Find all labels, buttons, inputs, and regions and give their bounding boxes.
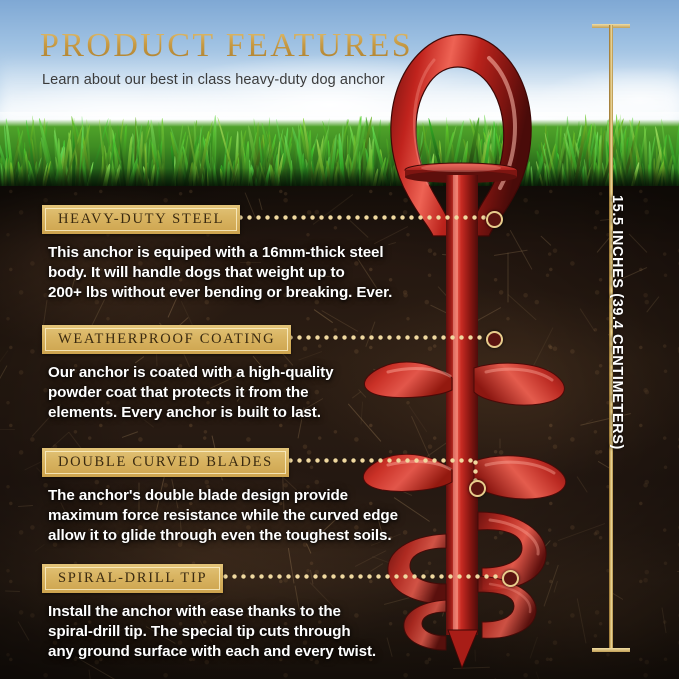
measure-cap-bottom [592,648,630,652]
header: PRODUCT FEATURES Learn about our best in… [40,28,413,88]
connector-endpoint-double-curved-blades [469,480,486,497]
feature-label-text-double-curved-blades: DOUBLE CURVED BLADES [58,454,273,471]
feature-body-heavy-duty-steel: This anchor is equiped with a 16mm-thick… [48,243,392,304]
grass-lawn [0,112,679,194]
connector-endpoint-spiral-drill-tip [502,570,519,587]
connector-endpoint-heavy-duty-steel [486,211,503,228]
feature-body-spiral-drill-tip: Install the anchor with ease thanks to t… [48,602,376,663]
feature-double-curved-blades: DOUBLE CURVED BLADES The anchor's double… [42,448,398,547]
feature-label-box-weatherproof-coating: WEATHERPROOF COATING [42,325,291,354]
feature-spiral-drill-tip: SPIRAL-DRILL TIP Install the anchor with… [42,564,376,663]
page-title: PRODUCT FEATURES [40,28,413,64]
feature-label-box-double-curved-blades: DOUBLE CURVED BLADES [42,448,289,477]
measurement-label: 15.5 INCHES (39.4 CENTIMETERS) [609,195,625,450]
feature-label-text-heavy-duty-steel: HEAVY-DUTY STEEL [58,211,224,228]
page-subtitle: Learn about our best in class heavy-duty… [42,72,413,88]
feature-label-text-weatherproof-coating: WEATHERPROOF COATING [58,331,275,348]
feature-label-text-spiral-drill-tip: SPIRAL-DRILL TIP [58,570,207,587]
feature-label-box-heavy-duty-steel: HEAVY-DUTY STEEL [42,205,240,234]
feature-label-box-spiral-drill-tip: SPIRAL-DRILL TIP [42,564,223,593]
feature-body-weatherproof-coating: Our anchor is coated with a high-quality… [48,363,333,424]
connector-endpoint-weatherproof-coating [486,331,503,348]
feature-weatherproof-coating: WEATHERPROOF COATING Our anchor is coate… [42,325,333,424]
feature-body-double-curved-blades: The anchor's double blade design provide… [48,486,398,547]
product-features-infographic: 15.5 INCHES (39.4 CENTIMETERS) PRODUCT F… [0,0,679,679]
feature-heavy-duty-steel: HEAVY-DUTY STEEL This anchor is equiped … [42,205,392,304]
